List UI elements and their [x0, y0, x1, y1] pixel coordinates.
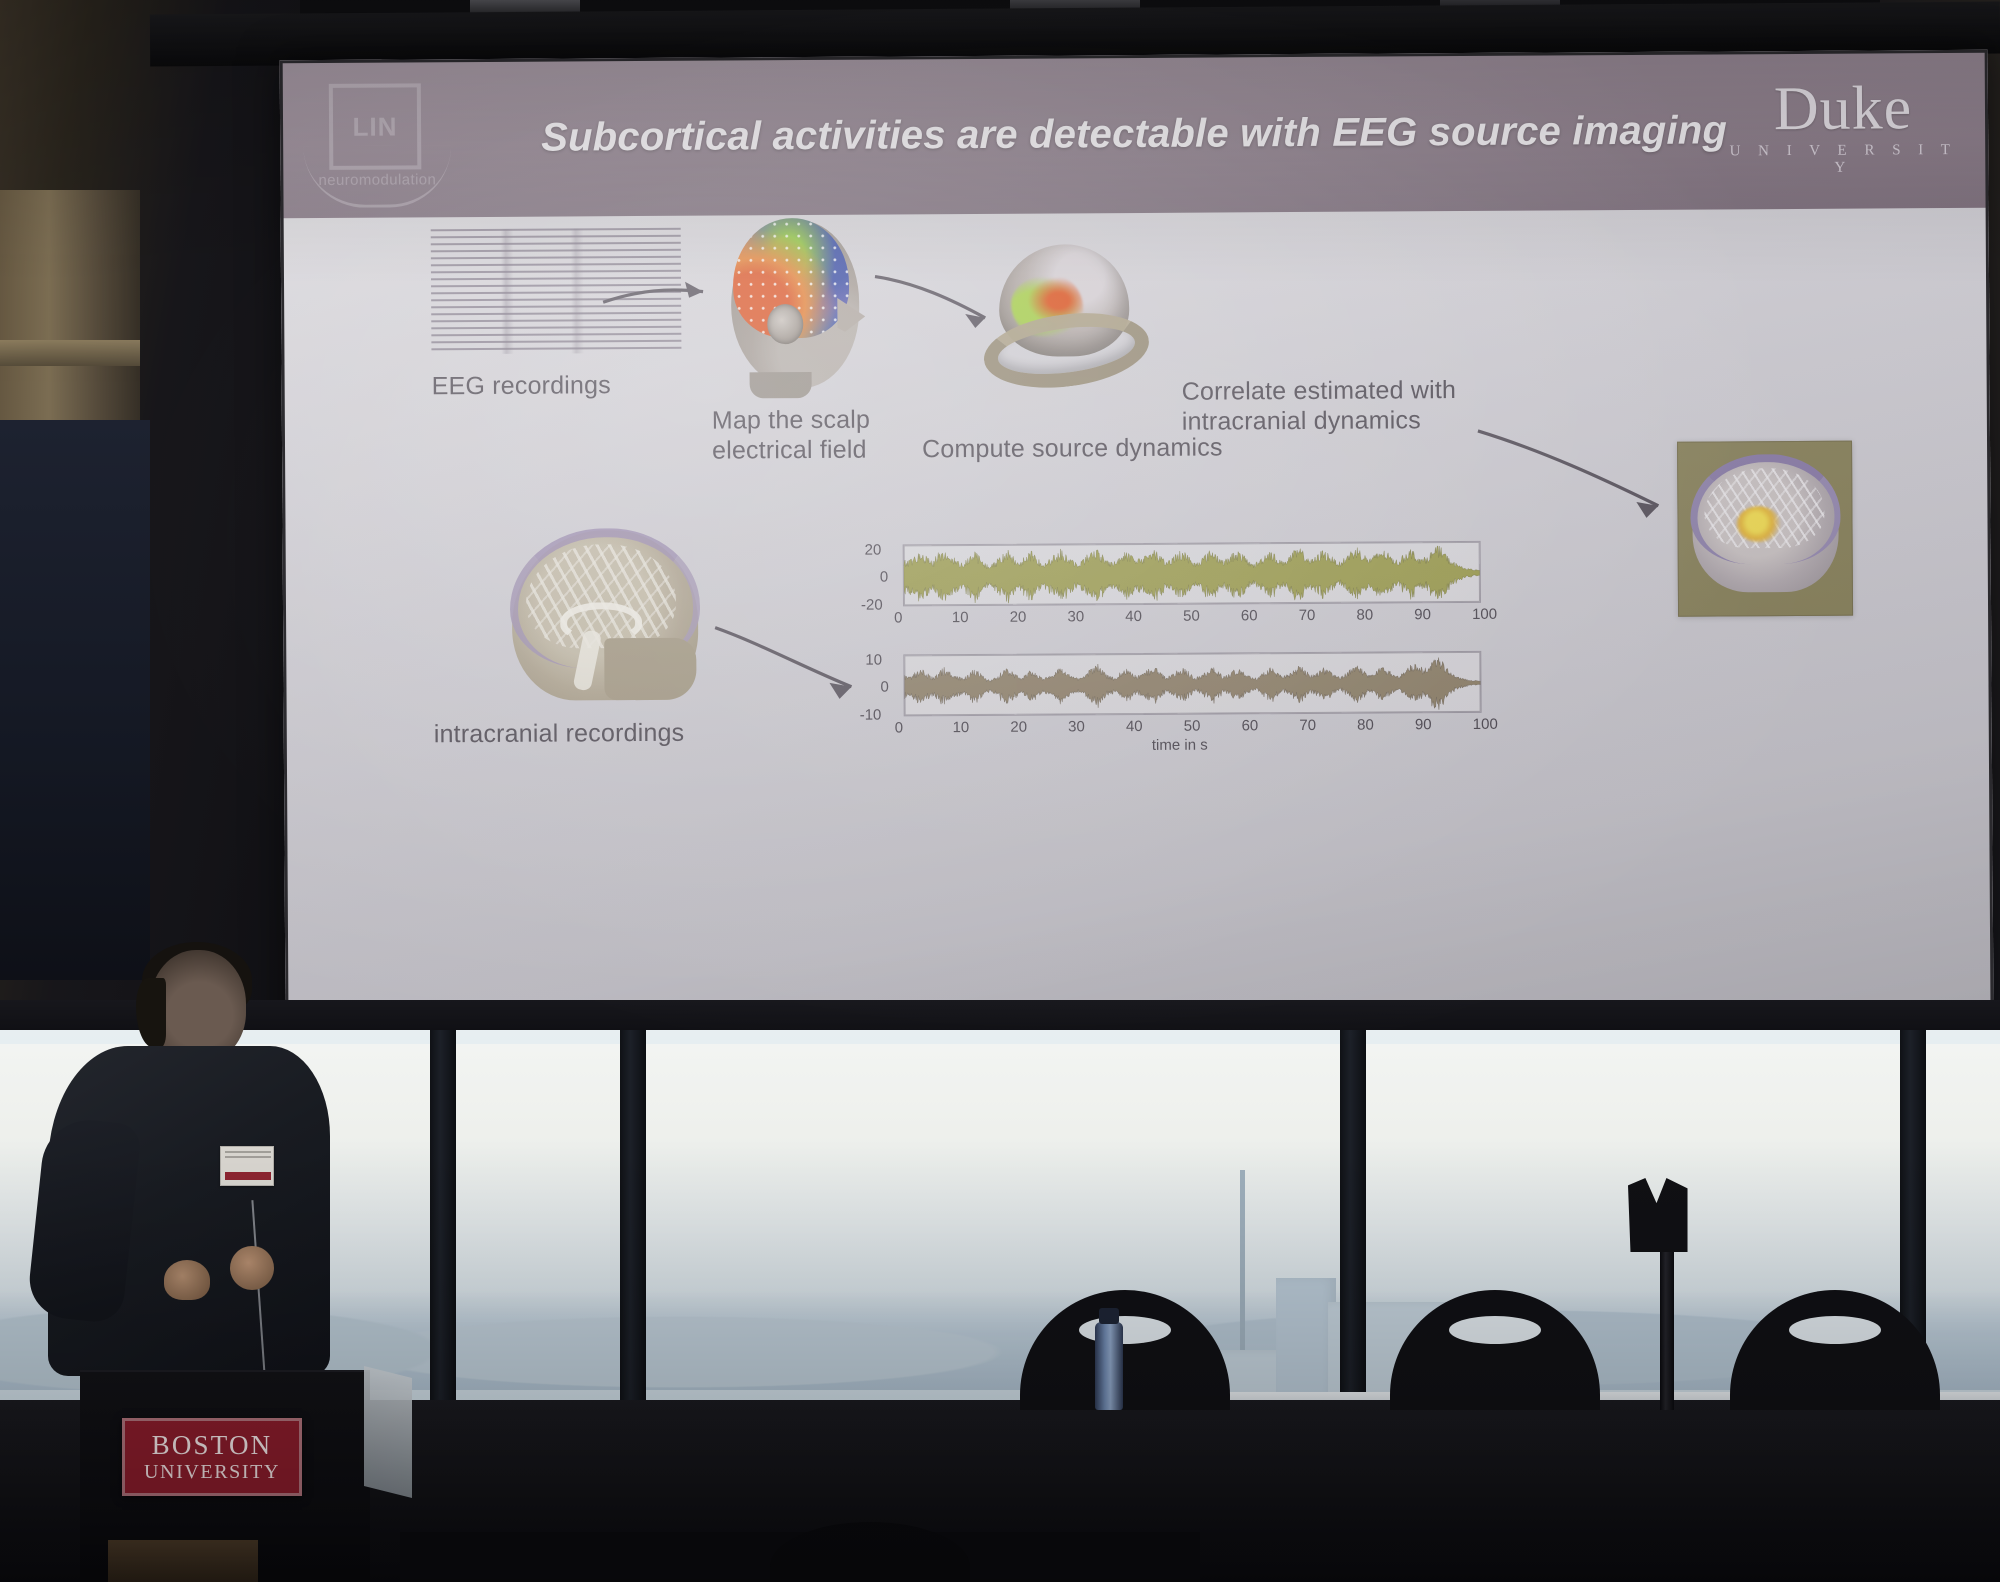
xtick: 30	[1067, 609, 1084, 624]
hand	[164, 1260, 210, 1300]
label-eeg-recordings: EEG recordings	[432, 370, 611, 401]
window-mullion	[1340, 1030, 1366, 1410]
slide-title: Subcortical activities are detectable wi…	[541, 108, 1727, 160]
duke-subtitle: U N I V E R S I T Y	[1728, 142, 1958, 177]
xtick: 10	[952, 610, 969, 625]
xtick: 70	[1299, 608, 1316, 623]
arrow-source-to-result	[1472, 422, 1683, 533]
intracranial-mri-sagittal	[508, 528, 704, 709]
chair-backrest-slot	[1789, 1316, 1881, 1344]
label-map-scalp: Map the scalp electrical field	[712, 405, 871, 466]
xtick: 20	[1010, 610, 1027, 625]
lectern-top-surface	[364, 1366, 412, 1498]
arrow-mri-to-plots	[711, 617, 872, 708]
microphone-stand	[1660, 1230, 1674, 1410]
wall-cornice	[0, 190, 140, 420]
xtick: 60	[1241, 608, 1258, 623]
corpus-callosum	[560, 602, 642, 643]
subcortical-activation-hotspot	[1736, 506, 1780, 542]
xtick: 100	[1472, 607, 1497, 622]
lectern-base	[108, 1540, 258, 1582]
chair-backrest-slot	[1449, 1316, 1541, 1344]
xtick: 90	[1414, 607, 1431, 622]
xtick: 80	[1356, 608, 1373, 623]
xaxis-label: time in s	[1152, 737, 1208, 754]
ytick-top-1: 20	[865, 543, 882, 558]
window-mullion	[430, 1030, 456, 1410]
ytick-bottom-3: -10	[860, 708, 882, 723]
antenna-mast	[1240, 1170, 1245, 1360]
conference-room-photo: LIN neuromodulation Subcortical activiti…	[0, 0, 2000, 1582]
waveform-source-estimate	[904, 542, 1480, 607]
xtick: 100	[1473, 717, 1498, 732]
chart-source-dynamics	[903, 541, 1481, 607]
chair-backrest-slot	[1079, 1316, 1171, 1344]
xtick: 0	[894, 610, 902, 625]
sign-line-2: UNIVERSITY	[144, 1460, 280, 1484]
facial-structures	[604, 638, 696, 701]
xtick: 20	[1010, 720, 1027, 735]
ytick-top-3: -20	[861, 598, 883, 613]
xtick: 90	[1415, 717, 1432, 732]
waveform-intracranial	[904, 652, 1480, 717]
label-correlate: Correlate estimated with intracranial dy…	[1182, 375, 1457, 437]
xtick: 70	[1299, 718, 1316, 733]
label-intracranial-recordings: intracranial recordings	[434, 718, 685, 750]
badge-color-stripe	[225, 1172, 271, 1180]
ytick-top-2: 0	[880, 570, 888, 585]
bottle-cap	[1099, 1308, 1119, 1324]
lin-logo-caption: neuromodulation	[303, 171, 451, 189]
duke-wordmark: Duke	[1728, 76, 1958, 141]
chart-intracranial	[903, 651, 1481, 717]
wall-panel	[0, 420, 150, 980]
name-badge	[220, 1146, 274, 1186]
neck	[750, 372, 812, 398]
badge-text-lines	[225, 1151, 271, 1161]
correlated-result-image	[1677, 441, 1853, 617]
water-bottle	[1095, 1322, 1123, 1410]
ear	[767, 304, 803, 344]
xtick: 30	[1068, 719, 1085, 734]
ytick-bottom-1: 10	[865, 653, 882, 668]
source-dynamics-brain	[981, 240, 1162, 401]
window-mullion	[620, 1030, 646, 1410]
hand	[230, 1246, 274, 1290]
ytick-bottom-2: 0	[880, 680, 888, 695]
projection-screen: LIN neuromodulation Subcortical activiti…	[280, 50, 1995, 1160]
arrow-eeg-to-scalp	[599, 268, 719, 329]
lin-neuromodulation-logo: LIN neuromodulation	[303, 79, 452, 210]
presentation-slide: LIN neuromodulation Subcortical activiti…	[280, 50, 1995, 1160]
xtick: 50	[1184, 719, 1201, 734]
xtick: 40	[1126, 719, 1143, 734]
xtick: 60	[1241, 718, 1258, 733]
xtick: 80	[1357, 718, 1374, 733]
slide-header-band: LIN neuromodulation Subcortical activiti…	[280, 50, 1989, 218]
label-compute-source: Compute source dynamics	[922, 432, 1223, 464]
xtick: 10	[952, 720, 969, 735]
boston-university-sign: BOSTON UNIVERSITY	[122, 1418, 302, 1496]
xtick: 50	[1183, 609, 1200, 624]
hair-strand	[136, 978, 166, 1048]
xtick: 40	[1125, 609, 1142, 624]
xtick: 0	[895, 720, 903, 735]
scalp-topography-head	[721, 212, 872, 398]
sign-line-1: BOSTON	[152, 1430, 273, 1460]
duke-university-logo: Duke U N I V E R S I T Y	[1728, 76, 1959, 177]
